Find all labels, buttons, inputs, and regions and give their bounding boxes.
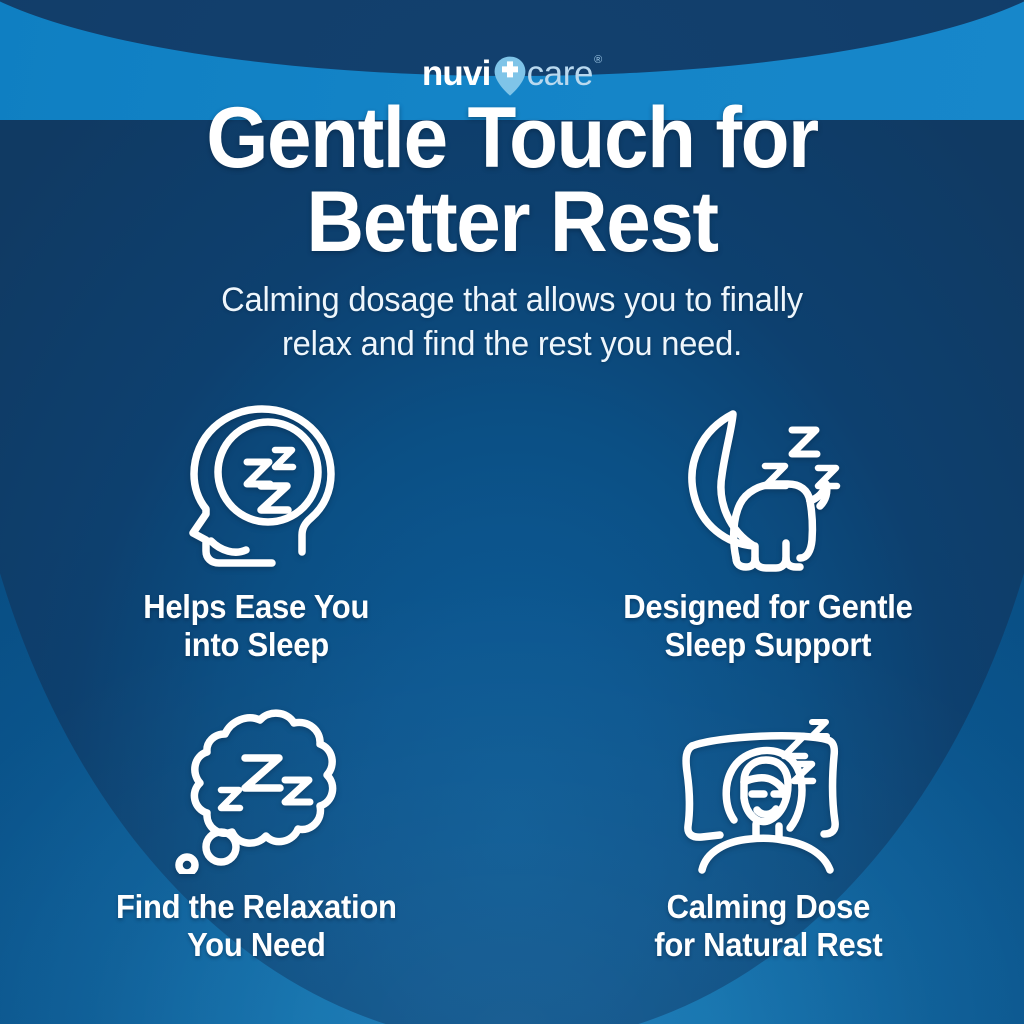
sleeping-person-pillow-zzz-icon bbox=[672, 698, 864, 878]
headline-line-1: Gentle Touch for bbox=[36, 96, 988, 180]
page-title: Gentle Touch for Better Rest bbox=[0, 96, 1024, 265]
brand-logo[interactable]: nuvi care ® bbox=[0, 52, 1024, 94]
thought-bubble-zzz-icon bbox=[161, 698, 351, 878]
brand-logo-inner: nuvi care ® bbox=[422, 52, 602, 94]
feature-label: Calming Dose for Natural Rest bbox=[654, 888, 882, 963]
headline-line-2: Better Rest bbox=[36, 180, 988, 264]
subhead-line-1: Calming dosage that allows you to finall… bbox=[147, 278, 877, 322]
map-pin-medical-cross-icon bbox=[493, 55, 527, 97]
feature-label: Helps Ease You into Sleep bbox=[143, 588, 369, 663]
feature-grid: Helps Ease You into Sleep bbox=[0, 398, 1024, 998]
subhead-line-2: relax and find the rest you need. bbox=[147, 322, 877, 366]
feature-label: Designed for Gentle Sleep Support bbox=[623, 588, 912, 663]
head-with-zzz-icon bbox=[169, 398, 343, 578]
feature-item-helps-ease-you-into-sleep: Helps Ease You into Sleep bbox=[0, 398, 512, 698]
feature-label: Find the Relaxation You Need bbox=[116, 888, 397, 963]
promo-poster: nuvi care ® Gentle Touch for Better Rest… bbox=[0, 0, 1024, 1024]
feature-item-designed-for-gentle-sleep-support: Designed for Gentle Sleep Support bbox=[512, 398, 1024, 698]
brand-name-secondary: care bbox=[527, 56, 594, 91]
page-subtitle: Calming dosage that allows you to finall… bbox=[132, 278, 892, 366]
registered-trademark-symbol: ® bbox=[594, 54, 602, 66]
crescent-moon-sleeping-animal-zzz-icon bbox=[676, 398, 860, 578]
feature-item-find-the-relaxation-you-need: Find the Relaxation You Need bbox=[0, 698, 512, 998]
feature-item-calming-dose-for-natural-rest: Calming Dose for Natural Rest bbox=[512, 698, 1024, 998]
brand-name-primary: nuvi bbox=[422, 56, 491, 91]
